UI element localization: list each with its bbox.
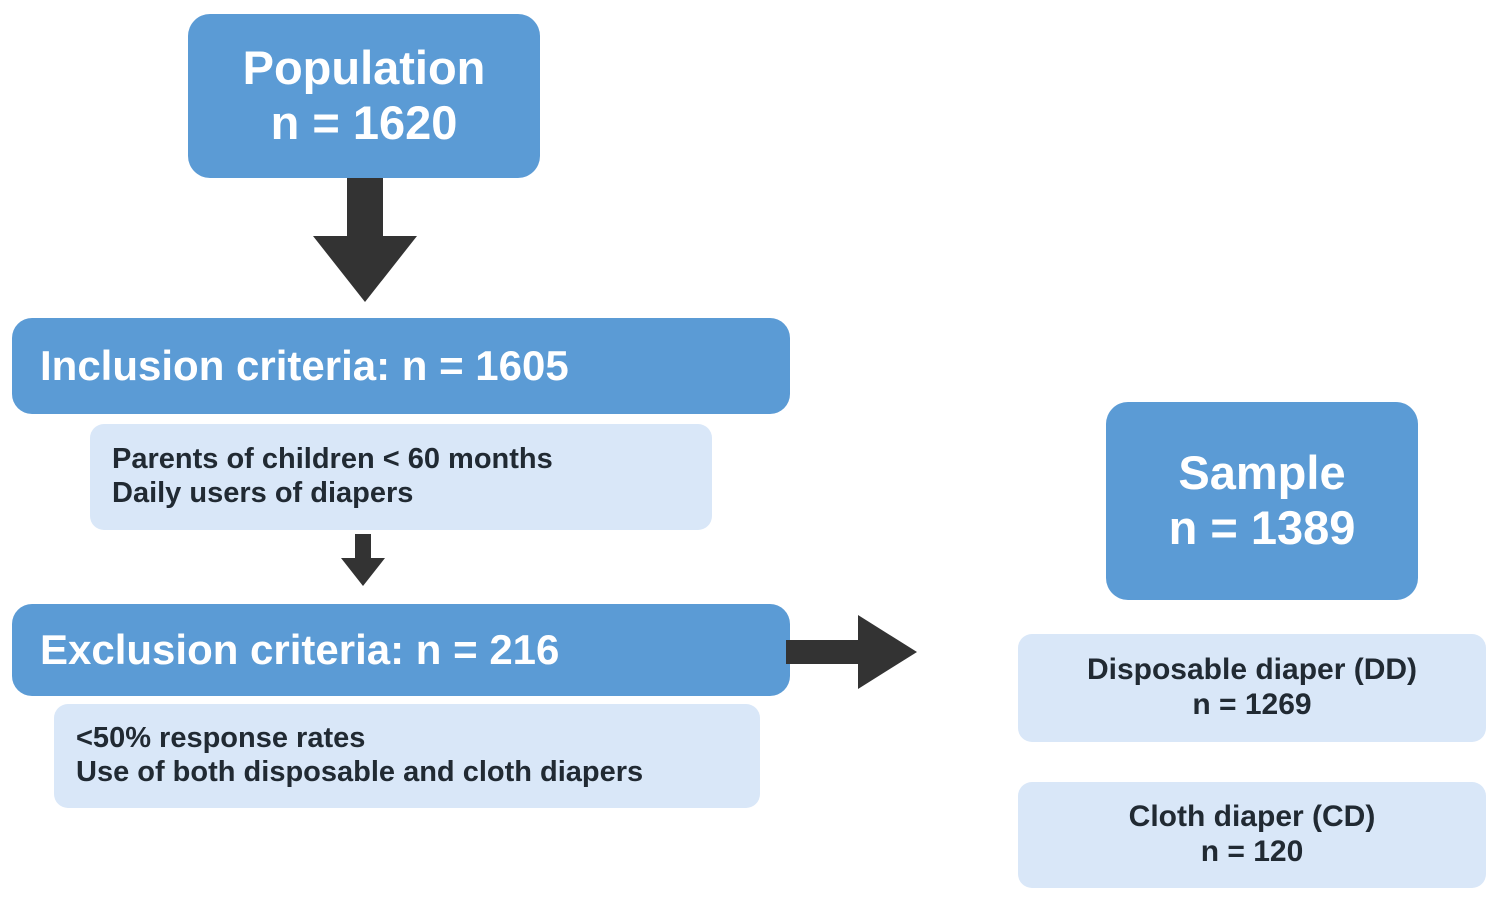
node-sample-count: n = 1389 bbox=[1169, 501, 1356, 556]
inclusion-criterion-1: Parents of children < 60 months bbox=[112, 443, 553, 477]
node-cloth-diaper[interactable]: Cloth diaper (CD) n = 120 bbox=[1018, 782, 1486, 888]
arrow-down-icon bbox=[338, 534, 388, 588]
flowchart-canvas: Population n = 1620 Inclusion criteria: … bbox=[0, 0, 1500, 908]
arrow-right-exclusion-to-sample bbox=[786, 612, 920, 692]
node-inclusion-criteria-details[interactable]: Parents of children < 60 months Daily us… bbox=[90, 424, 712, 530]
arrow-down-icon bbox=[305, 178, 425, 306]
inclusion-criterion-2: Daily users of diapers bbox=[112, 477, 413, 511]
arrow-right-icon bbox=[786, 612, 920, 692]
node-population-label: Population bbox=[243, 41, 486, 96]
node-exclusion-label: Exclusion criteria: n = 216 bbox=[40, 626, 559, 675]
node-sample-label: Sample bbox=[1178, 446, 1345, 501]
node-inclusion-criteria[interactable]: Inclusion criteria: n = 1605 bbox=[12, 318, 790, 414]
node-cloth-diaper-label: Cloth diaper (CD) bbox=[1129, 800, 1376, 835]
node-population[interactable]: Population n = 1620 bbox=[188, 14, 540, 178]
node-population-count: n = 1620 bbox=[271, 96, 458, 151]
exclusion-criterion-1: <50% response rates bbox=[76, 722, 365, 756]
node-disposable-diaper-count: n = 1269 bbox=[1192, 688, 1311, 723]
arrow-down-inclusion-to-exclusion bbox=[338, 534, 388, 588]
node-exclusion-criteria[interactable]: Exclusion criteria: n = 216 bbox=[12, 604, 790, 696]
arrow-down-population-to-inclusion bbox=[305, 178, 425, 306]
node-disposable-diaper-label: Disposable diaper (DD) bbox=[1087, 653, 1417, 688]
node-disposable-diaper[interactable]: Disposable diaper (DD) n = 1269 bbox=[1018, 634, 1486, 742]
node-cloth-diaper-count: n = 120 bbox=[1201, 835, 1304, 870]
node-sample[interactable]: Sample n = 1389 bbox=[1106, 402, 1418, 600]
node-exclusion-criteria-details[interactable]: <50% response rates Use of both disposab… bbox=[54, 704, 760, 808]
exclusion-criterion-2: Use of both disposable and cloth diapers bbox=[76, 756, 643, 790]
node-inclusion-label: Inclusion criteria: n = 1605 bbox=[40, 342, 569, 391]
